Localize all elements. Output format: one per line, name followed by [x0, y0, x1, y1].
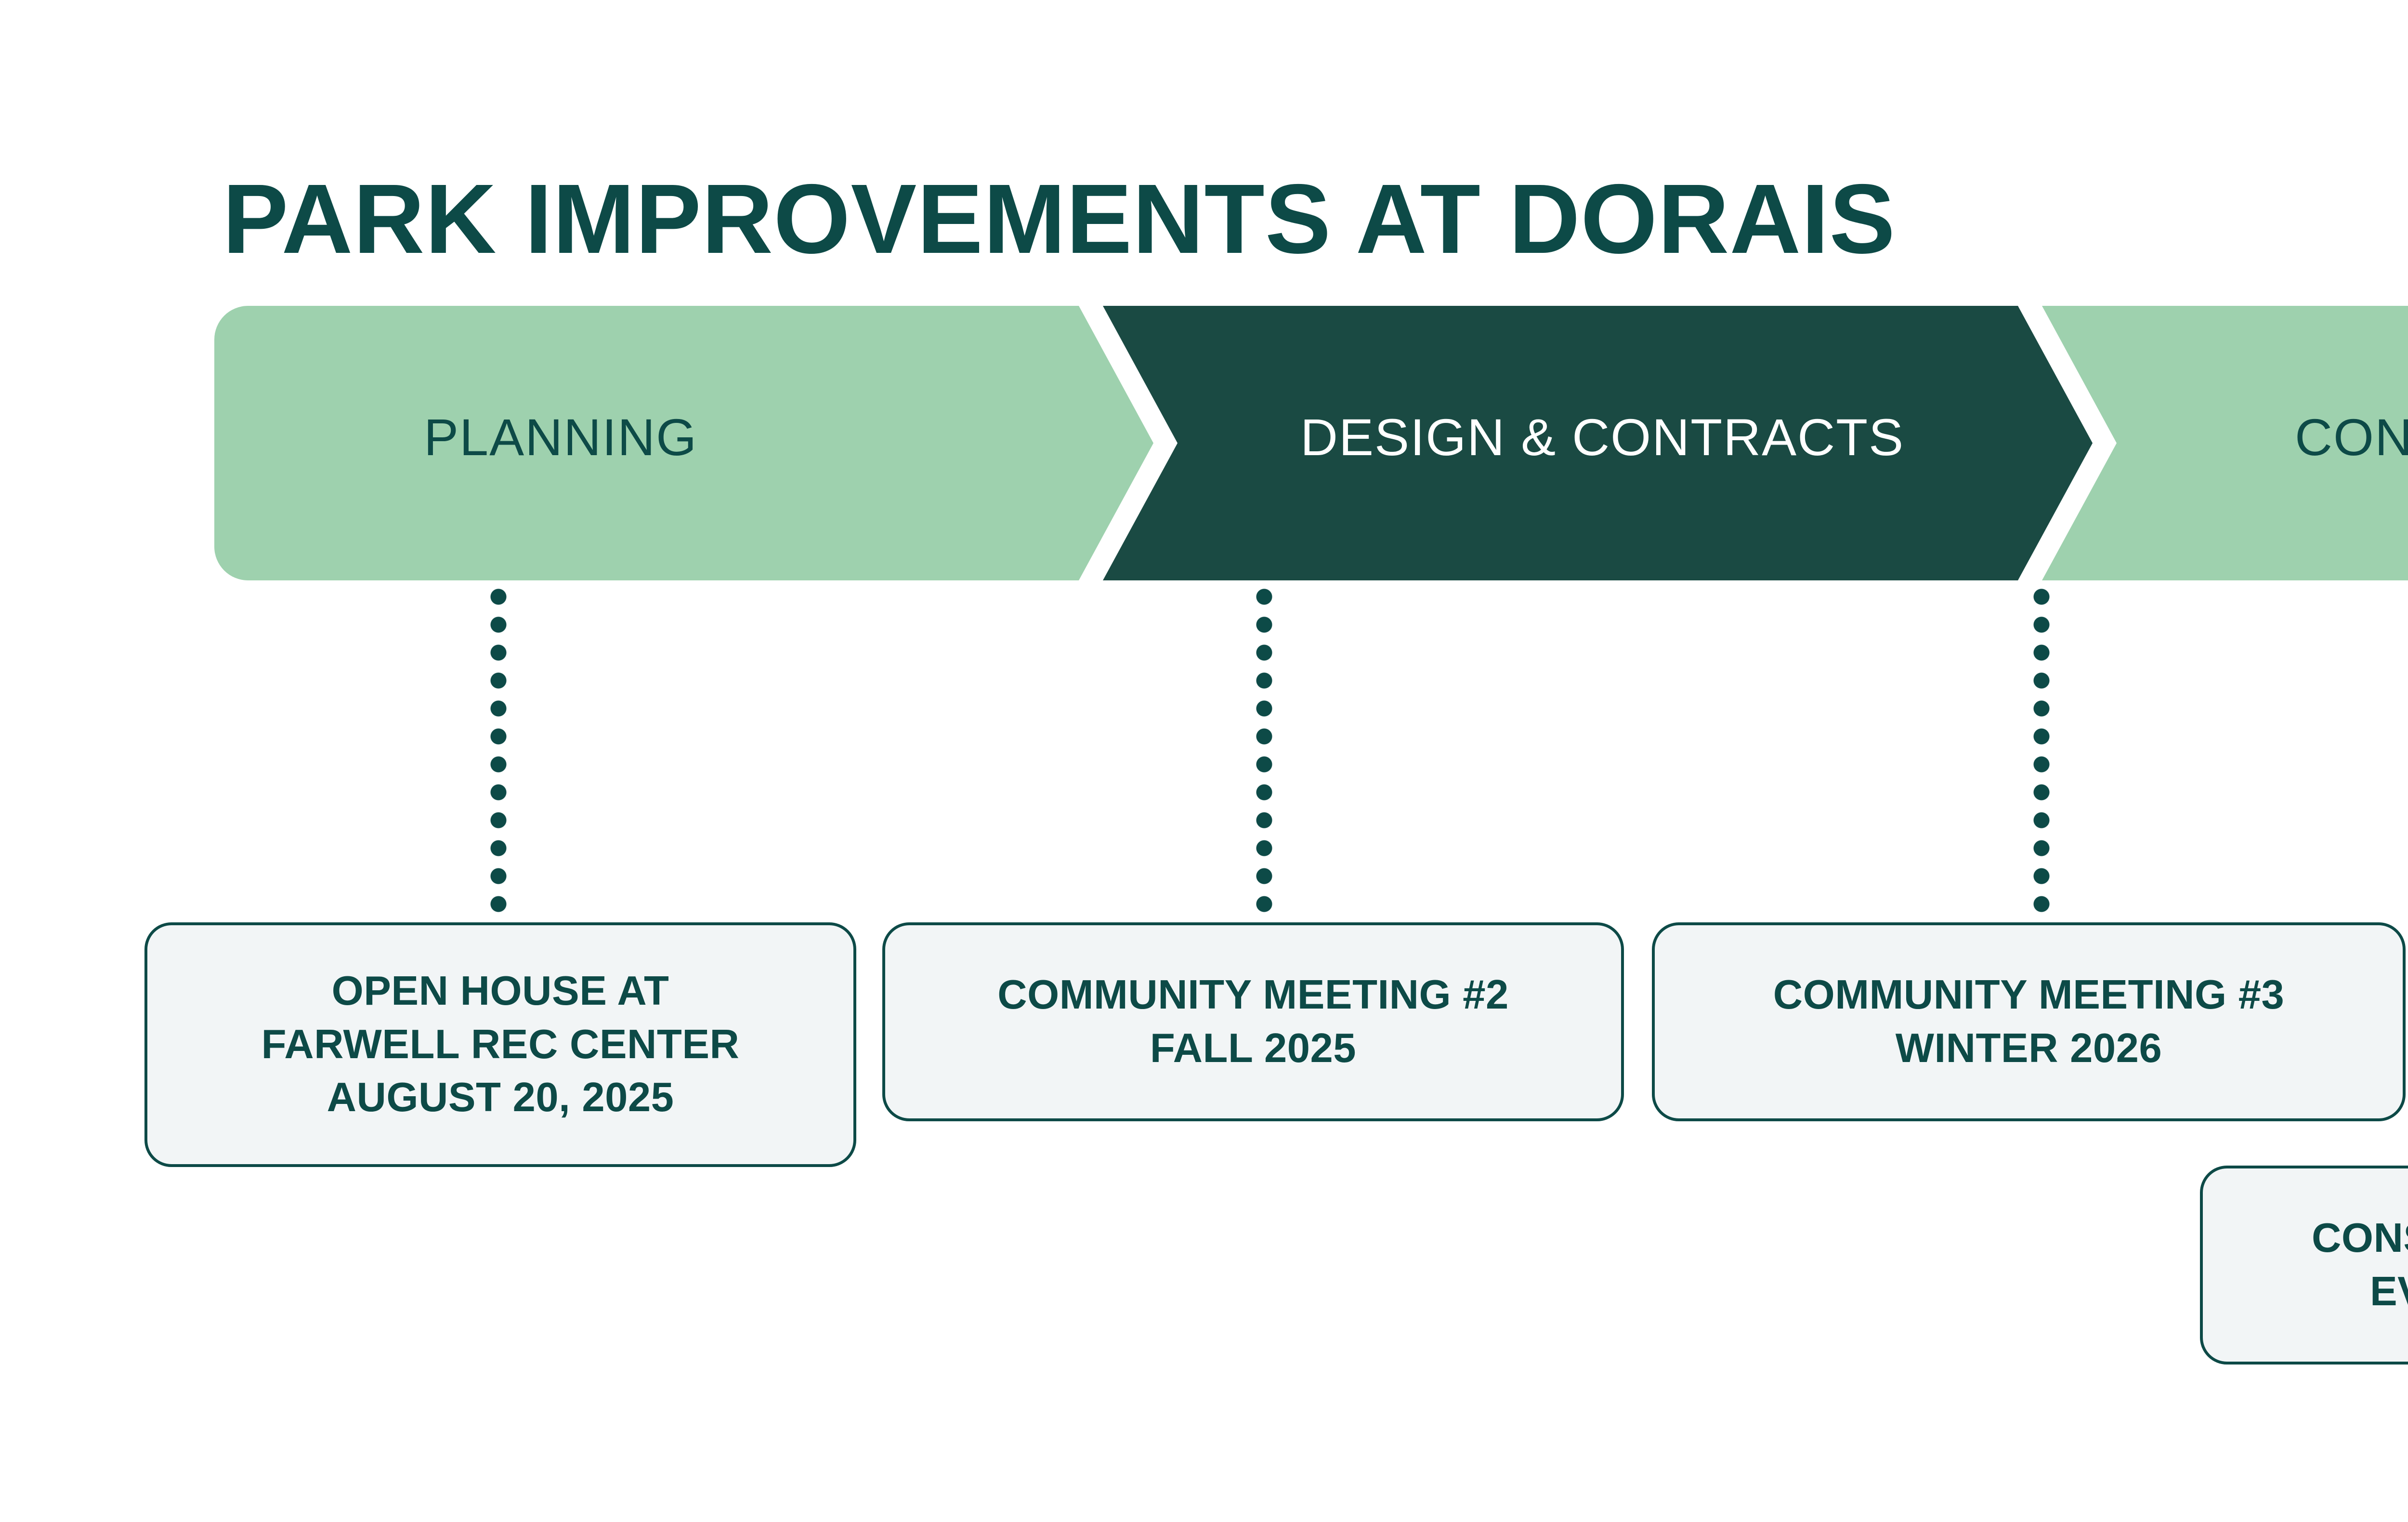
- event-line: COMMUNITY MEETING #3: [1773, 969, 2285, 1022]
- event-box-community-meeting-2[interactable]: COMMUNITY MEETING #2 FALL 2025: [882, 922, 1624, 1121]
- event-line: AUGUST 20, 2025: [327, 1071, 674, 1125]
- event-line: FARWELL REC CENTER: [262, 1018, 740, 1072]
- chevron-stage-label-planning: PLANNING: [424, 407, 697, 467]
- chevron-stage-label-design-contracts: DESIGN & CONTRACTS: [1300, 407, 1904, 467]
- chevron-stage-label-construction: CONSTRUCTION: [2295, 407, 2408, 467]
- event-line: EVENT SPRING 2026: [2370, 1265, 2408, 1319]
- event-line: COMMUNITY MEETING #2: [997, 969, 1509, 1022]
- timeline-diagram: PARK IMPROVEMENTS AT DORAIS PLANNING DES…: [0, 0, 2408, 1522]
- event-line: CONSTRUCTION KICKOFF: [2312, 1212, 2408, 1265]
- event-line: FALL 2025: [1150, 1022, 1356, 1076]
- event-box-construction-kickoff[interactable]: CONSTRUCTION KICKOFF EVENT SPRING 2026: [2200, 1166, 2408, 1365]
- page-title: PARK IMPROVEMENTS AT DORAIS: [222, 170, 1896, 268]
- dotted-connector-open-house: [490, 589, 507, 921]
- dotted-connector-meeting-2: [1256, 589, 1272, 921]
- event-box-community-meeting-3[interactable]: COMMUNITY MEETING #3 WINTER 2026: [1652, 922, 2406, 1121]
- event-line: WINTER 2026: [1896, 1022, 2162, 1076]
- event-line: OPEN HOUSE AT: [332, 965, 669, 1018]
- dotted-connector-meeting-3: [2033, 589, 2050, 921]
- event-box-open-house[interactable]: OPEN HOUSE AT FARWELL REC CENTER AUGUST …: [144, 922, 856, 1167]
